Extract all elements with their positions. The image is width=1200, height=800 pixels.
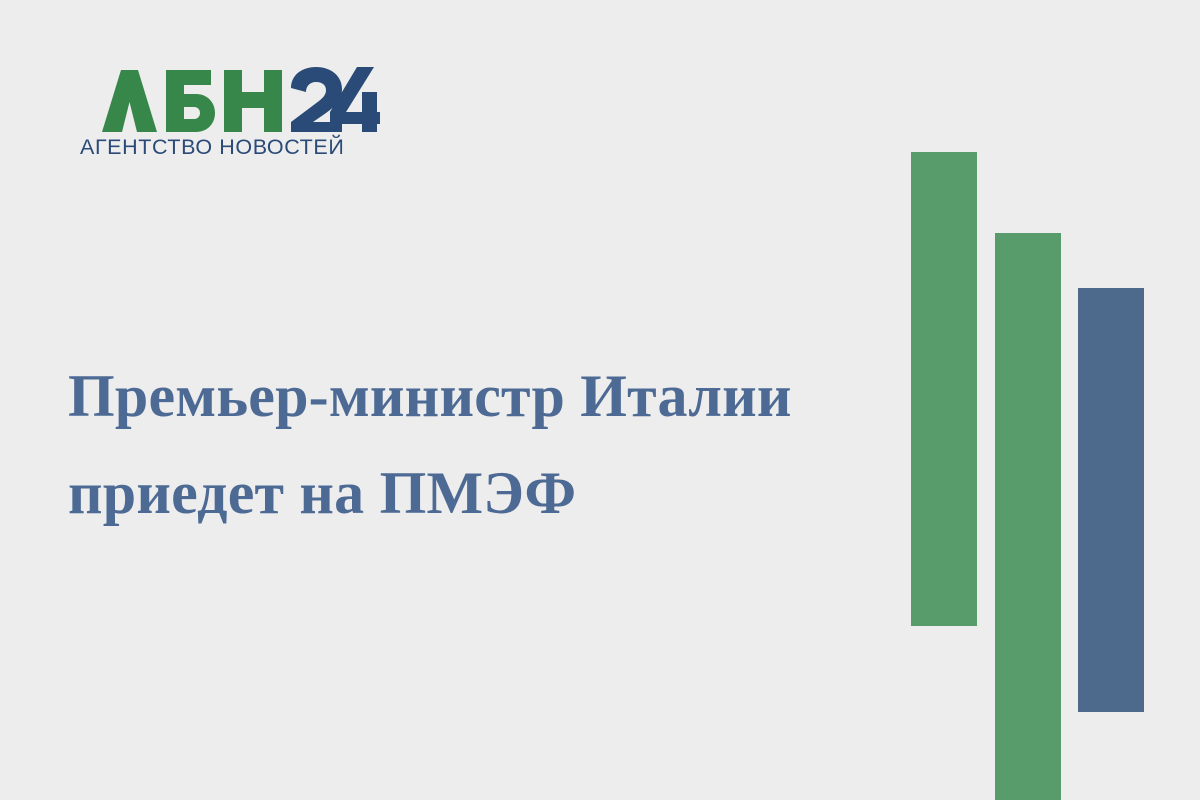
headline: Премьер-министр Италии приедет на ПМЭФ (68, 348, 868, 542)
logo-letter-en (224, 70, 282, 132)
bar-blue (1078, 288, 1144, 712)
bar-green-long (995, 233, 1061, 800)
bar-green-tall (911, 152, 977, 626)
logo-tagline: АГЕНТСТВО НОВОСТЕЙ (80, 134, 344, 159)
logo-letter-be (166, 70, 215, 132)
abn24-logo: АГЕНТСТВО НОВОСТЕЙ (80, 62, 380, 158)
logo-letter-a (102, 70, 157, 132)
news-card: АГЕНТСТВО НОВОСТЕЙ Премьер-министр Итали… (0, 0, 1200, 800)
